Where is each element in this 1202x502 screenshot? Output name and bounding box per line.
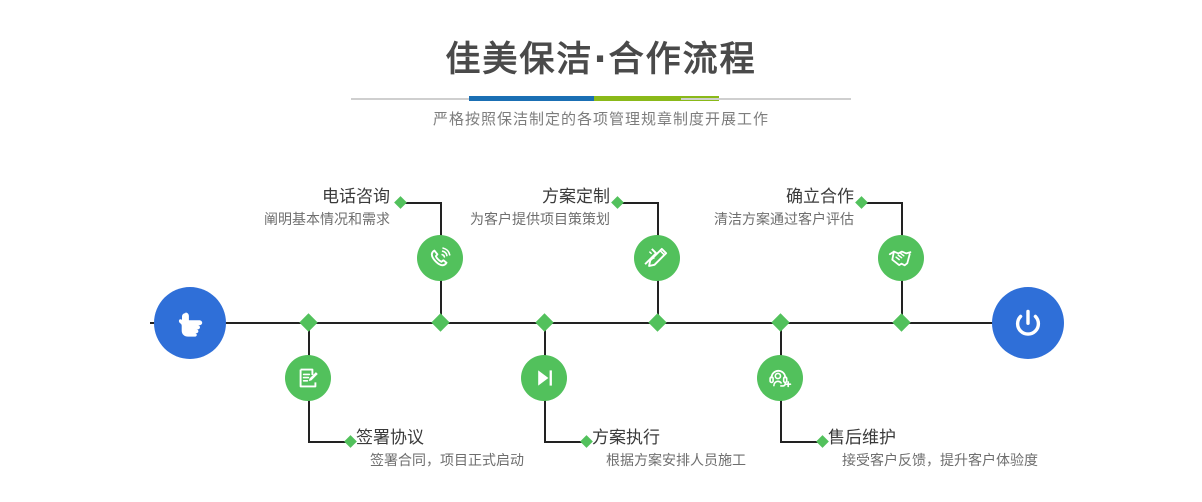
timeline-marker-step-4 [535, 313, 553, 331]
play-execute-icon [530, 364, 558, 392]
step-label-2: 签署协议 签署合同，项目正式启动 [356, 427, 616, 471]
timeline-marker-step-5 [892, 313, 910, 331]
divider-right-rule [681, 98, 851, 100]
step-title-6: 售后维护 [828, 427, 1108, 449]
step-label-1: 电话咨询 阐明基本情况和需求 [150, 186, 390, 230]
step-desc-2: 签署合同，项目正式启动 [370, 451, 616, 471]
step-desc-3: 为客户提供项目策策划 [370, 210, 610, 230]
step-desc-5: 清洁方案通过客户评估 [614, 210, 854, 230]
label-marker-step-5 [855, 196, 868, 209]
phone-call-icon [426, 244, 454, 272]
step-node-5[interactable] [878, 235, 924, 281]
timeline-marker-step-6 [771, 313, 789, 331]
document-edit-icon [294, 364, 322, 392]
step-node-2[interactable] [285, 355, 331, 401]
pencil-ruler-icon [643, 244, 671, 272]
timeline-marker-step-1 [431, 313, 449, 331]
page-title: 佳美保洁·合作流程 [0, 38, 1202, 82]
step-label-6: 售后维护 接受客户反馈，提升客户体验度 [828, 427, 1108, 471]
divider-blue-segment [469, 96, 594, 101]
title-divider [351, 96, 851, 102]
page-subtitle: 严格按照保洁制定的各项管理规章制度开展工作 [0, 108, 1202, 129]
customer-service-icon [766, 364, 794, 392]
timeline-axis [150, 322, 1052, 324]
label-marker-step-2 [344, 435, 357, 448]
step-title-1: 电话咨询 [150, 186, 390, 208]
step-node-4[interactable] [521, 355, 567, 401]
step-title-4: 方案执行 [592, 427, 852, 449]
step-label-5: 确立合作 清洁方案通过客户评估 [614, 186, 854, 230]
step-desc-1: 阐明基本情况和需求 [150, 210, 390, 230]
step-node-3[interactable] [634, 235, 680, 281]
timeline-marker-step-2 [299, 313, 317, 331]
step-desc-4: 根据方案安排人员施工 [606, 451, 852, 471]
step-label-4: 方案执行 根据方案安排人员施工 [592, 427, 852, 471]
step-label-3: 方案定制 为客户提供项目策策划 [370, 186, 610, 230]
pointing-hand-icon [170, 303, 210, 343]
step-node-1[interactable] [417, 235, 463, 281]
flow-start-node[interactable] [154, 287, 226, 359]
step-node-6[interactable] [757, 355, 803, 401]
power-icon [1008, 303, 1048, 343]
timeline-marker-step-3 [648, 313, 666, 331]
step-desc-6: 接受客户反馈，提升客户体验度 [842, 451, 1108, 471]
flow-end-node[interactable] [992, 287, 1064, 359]
step-title-2: 签署协议 [356, 427, 616, 449]
page-header: 佳美保洁·合作流程 严格按照保洁制定的各项管理规章制度开展工作 [0, 0, 1202, 150]
handshake-icon [887, 244, 915, 272]
step-title-3: 方案定制 [370, 186, 610, 208]
process-flow-diagram: 电话咨询 阐明基本情况和需求 签署协议 签署合同，项目正式启动 [0, 150, 1202, 502]
step-title-5: 确立合作 [614, 186, 854, 208]
